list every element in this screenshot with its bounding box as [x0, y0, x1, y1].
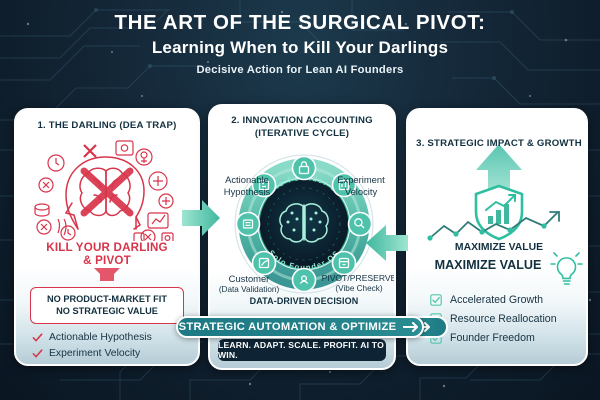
infographic-canvas: THE ART OF THE SURGICAL PIVOT: Learning …	[0, 0, 600, 400]
header: THE ART OF THE SURGICAL PIVOT: Learning …	[0, 12, 600, 76]
panel2-title: 2. INNOVATION ACCOUNTING (ITERATIVE CYCL…	[210, 115, 394, 141]
list-item: Accelerated Growth	[430, 294, 586, 306]
cycle-label-line1: PIVOT/PRESERVE	[321, 273, 396, 284]
list-item: Founder Freedom	[430, 332, 586, 344]
panel2-title-line2: (ITERATIVE CYCLE)	[210, 128, 394, 141]
kill-your-darling-text: KILL YOUR DARLING & PIVOT	[16, 241, 198, 267]
panel1-title: 1. THE DARLING (DEA TRAP)	[16, 120, 198, 131]
target-person-icon	[293, 268, 316, 291]
panel2-title-line1: 2. INNOVATION ACCOUNTING	[210, 115, 394, 128]
cycle-label-pivot-preserve: PIVOT/PRESERVE (Vibe Check)	[321, 273, 396, 294]
list-item-label: Resource Reallocation	[450, 313, 557, 325]
head-brain-crossed-out-icon	[16, 133, 200, 241]
archive-icon	[333, 251, 356, 274]
banner-label: STRATEGIC AUTOMATION & OPTIMIZE	[179, 321, 397, 333]
list-item-label: Accelerated Growth	[450, 294, 543, 306]
cycle-label-line2: (Data Validation)	[212, 285, 286, 295]
list-item: Experiment Velocity	[32, 348, 198, 359]
cycle-label-line1: Actionable	[214, 174, 280, 186]
cycle-label-line1: Customer	[212, 273, 286, 285]
panel3-title: 3. STRATEGIC IMPACT & GROWTH	[408, 138, 588, 149]
callout-line-1: NO PRODUCT-MARKET FIT	[35, 293, 179, 305]
list-item: Customer Data Validation	[32, 364, 198, 366]
check-icon	[32, 364, 43, 366]
list-item-label: Actionable Hypothesis	[49, 332, 152, 343]
checkbox-icon	[430, 294, 442, 306]
list-item-label: Experiment Velocity	[49, 348, 140, 359]
callout-line-2: NO STRATEGIC VALUE	[35, 305, 179, 317]
cycle-label-experiment-velocity: Experiment Velocity	[328, 174, 394, 198]
maximize-value-large: MAXIMIZE VALUE	[408, 258, 568, 272]
list-item: Resource Reallocation	[430, 313, 586, 325]
panel2-footer-bar: LEARN. ADAPT. SCALE. PROFIT. AI TO WIN.	[218, 339, 386, 361]
no-fit-callout: NO PRODUCT-MARKET FIT NO STRATEGIC VALUE	[30, 287, 184, 324]
cycle-label-line2: Velocity	[328, 186, 394, 198]
page-title: THE ART OF THE SURGICAL PIVOT:	[0, 12, 600, 35]
page-subtitle: Learning When to Kill Your Darlings	[0, 38, 600, 58]
page-tagline: Decisive Action for Lean AI Founders	[0, 64, 600, 76]
right-arrow-icon	[403, 321, 421, 333]
cycle-label-line2: Hypothesis	[214, 186, 280, 198]
panel1-checklist: Actionable Hypothesis Experiment Velocit…	[32, 332, 198, 366]
panel2-footer-text: LEARN. ADAPT. SCALE. PROFIT. AI TO WIN.	[218, 340, 386, 360]
check-icon	[32, 332, 43, 343]
strategic-automation-banner[interactable]: STRATEGIC AUTOMATION & OPTIMIZE	[176, 316, 424, 338]
cycle-label-customer: Customer (Data Validation)	[212, 273, 286, 295]
check-icon	[32, 348, 43, 359]
panel3-checklist: Accelerated Growth Resource Reallocation…	[430, 294, 586, 344]
maximize-value-small: MAXIMIZE VALUE	[408, 242, 588, 253]
list-icon	[237, 212, 260, 235]
list-item-label: Founder Freedom	[450, 332, 535, 344]
lock-icon	[293, 156, 316, 179]
cycle-label-line1: Experiment	[328, 174, 394, 186]
panel-the-darling: 1. THE DARLING (DEA TRAP)	[14, 108, 200, 366]
kill-line-1: KILL YOUR DARLING	[16, 241, 198, 254]
panel3-artwork: 3. STRATEGIC IMPACT & GROWTH MAXIMIZE VA…	[408, 138, 588, 288]
cycle-label-actionable-hypothesis: Actionable Hypothesis	[214, 174, 280, 198]
list-item-label: Customer Data Validation	[49, 364, 167, 366]
down-arrow-icon	[94, 268, 120, 281]
cycle-label-line2: (Vibe Check)	[321, 284, 396, 294]
arrow-panel3-to-panel2	[362, 222, 408, 264]
arrow-panel1-to-panel2	[182, 196, 222, 240]
list-item: Actionable Hypothesis	[32, 332, 198, 343]
data-driven-decision-label: DATA-DRIVEN DECISION	[210, 296, 396, 306]
kill-line-2: & PIVOT	[16, 254, 198, 267]
